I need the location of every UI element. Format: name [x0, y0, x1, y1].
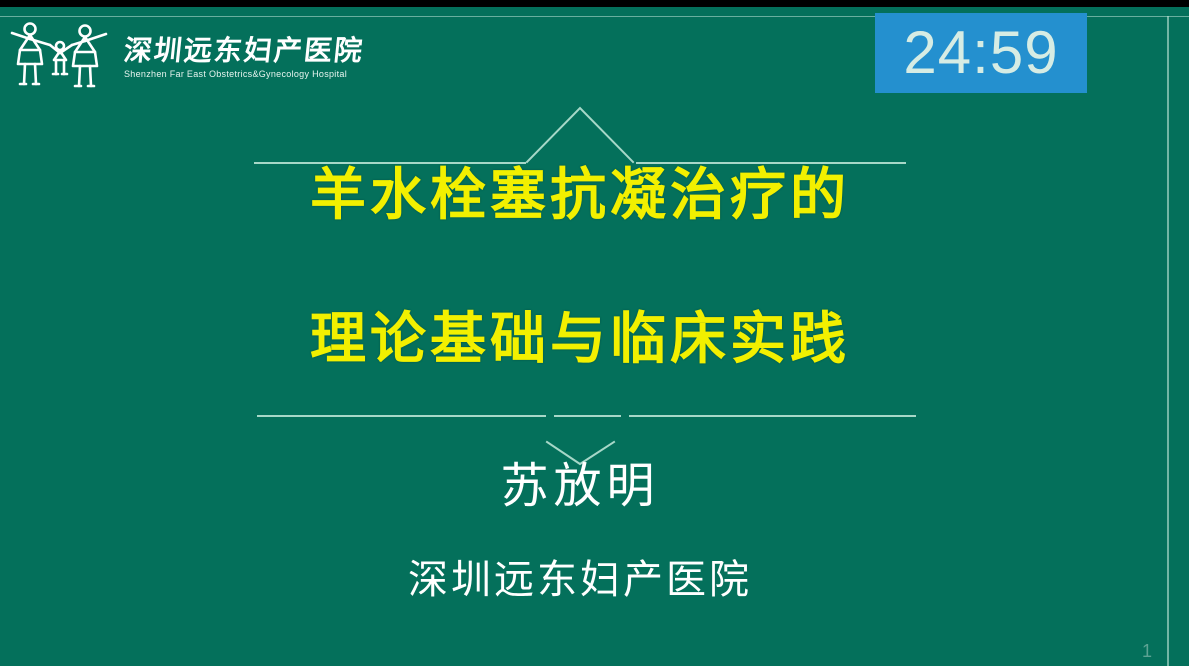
countdown-timer-value: 24:59: [903, 23, 1058, 83]
slide-title-line-1: 羊水栓塞抗凝治疗的: [0, 168, 1160, 224]
presentation-slide: 深圳远东妇产医院 Shenzhen Far East Obstetrics&Gy…: [0, 0, 1189, 666]
hospital-name-cn: 深圳远东妇产医院: [122, 36, 365, 65]
presenter-name: 苏放明: [0, 462, 1160, 510]
top-letterbox-bar: [0, 0, 1189, 7]
countdown-timer-badge[interactable]: 24:59: [875, 13, 1087, 93]
family-figures-icon: [6, 18, 114, 92]
slide-frame-right-line: [1167, 16, 1169, 666]
hospital-name-en: Shenzhen Far East Obstetrics&Gynecology …: [124, 69, 364, 80]
chevron-up-ornament: [0, 100, 1189, 170]
slide-title: 羊水栓塞抗凝治疗的 理论基础与临床实践: [0, 168, 1160, 368]
hospital-name-block: 深圳远东妇产医院 Shenzhen Far East Obstetrics&Gy…: [124, 30, 364, 79]
hospital-branding: 深圳远东妇产医院 Shenzhen Far East Obstetrics&Gy…: [6, 18, 364, 92]
presenter-organization: 深圳远东妇产医院: [0, 560, 1160, 600]
slide-title-line-2: 理论基础与临床实践: [0, 312, 1160, 368]
slide-number: 1: [1142, 642, 1152, 660]
